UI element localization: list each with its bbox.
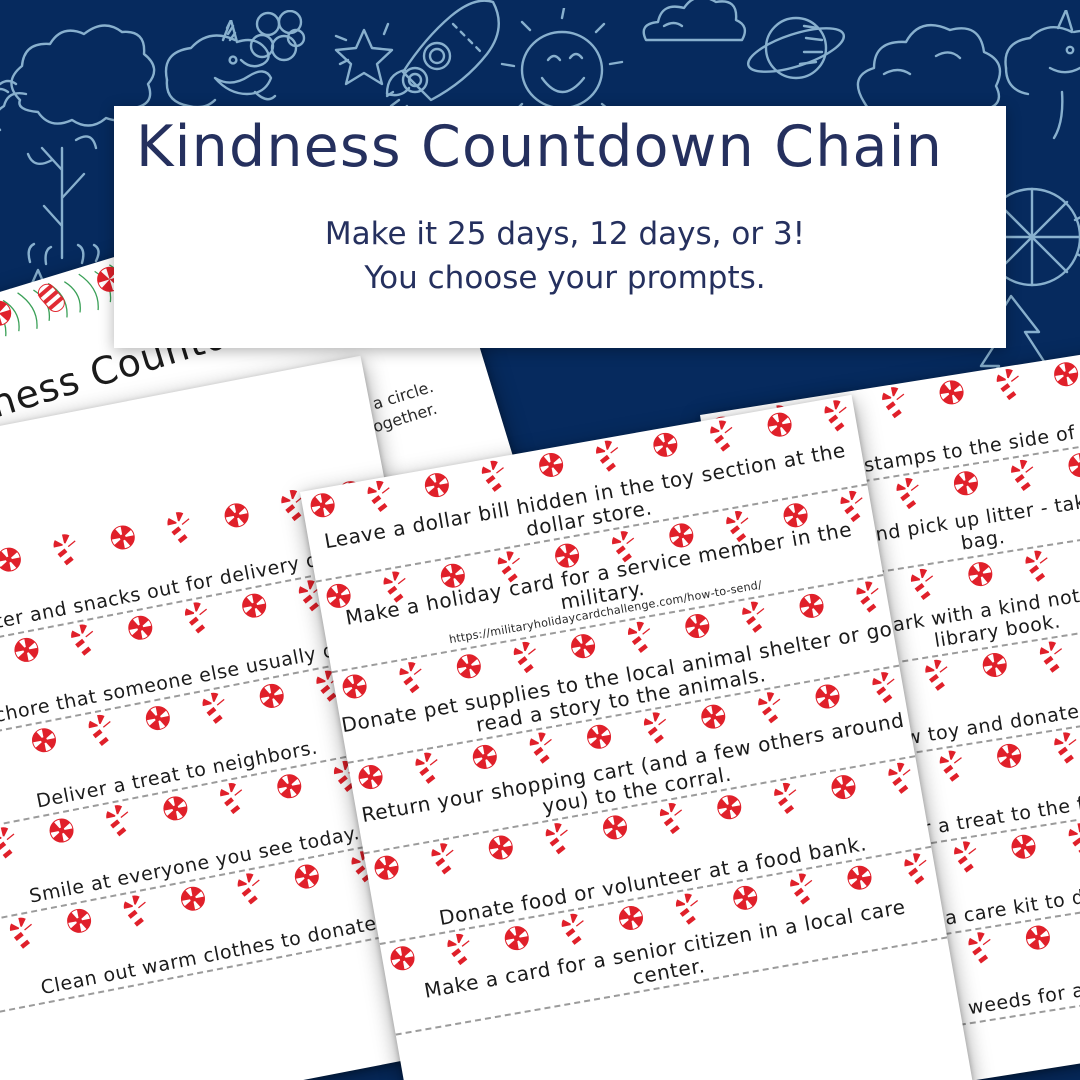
saturn-doodle bbox=[740, 4, 850, 104]
header-banner: Kindness Countdown Chain Make it 25 days… bbox=[114, 106, 1006, 348]
flower-doodle bbox=[244, 10, 314, 70]
unicorn-doodle bbox=[1000, 10, 1080, 150]
subtitle-line-1: Make it 25 days, 12 days, or 3! bbox=[136, 212, 994, 256]
subtitle-line-2: You choose your prompts. bbox=[136, 256, 994, 300]
page-title: Kindness Countdown Chain bbox=[136, 114, 986, 180]
center-strips-container: M-6 5 q13 13.750000000000002 5 25M-2.5 4… bbox=[300, 395, 947, 1036]
page-subtitle: Make it 25 days, 12 days, or 3! You choo… bbox=[136, 212, 994, 300]
poster-canvas: Kindness Countdown Chain Tape or glue th… bbox=[0, 0, 1080, 1080]
